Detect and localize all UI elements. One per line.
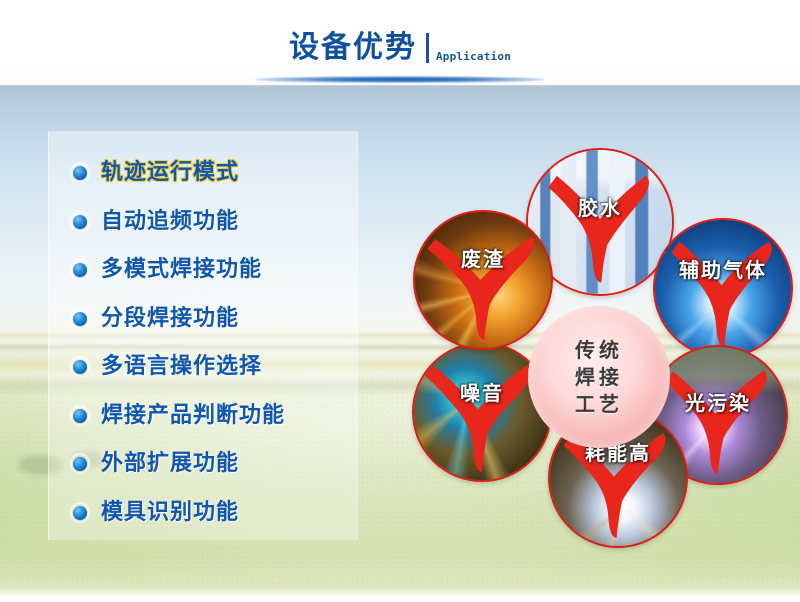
diagram-center-node[interactable]: 传统 焊接 工艺 bbox=[528, 306, 670, 448]
feature-item-7[interactable]: 外部扩展功能 bbox=[48, 440, 378, 489]
feature-label: 外部扩展功能 bbox=[101, 453, 239, 475]
feature-item-2[interactable]: 自动追频功能 bbox=[48, 198, 378, 247]
feature-label: 多语言操作选择 bbox=[101, 356, 262, 378]
node-label: 胶水 bbox=[528, 198, 672, 218]
feature-item-4[interactable]: 分段焊接功能 bbox=[48, 295, 378, 344]
red-cross-icon bbox=[415, 212, 551, 348]
feature-item-5[interactable]: 多语言操作选择 bbox=[48, 343, 378, 392]
center-label-line-2: 焊接 bbox=[575, 364, 623, 391]
bullet-dot-icon bbox=[73, 457, 87, 471]
feature-label: 模具识别功能 bbox=[101, 502, 239, 524]
page-title-cn: 设备优势 bbox=[289, 33, 417, 63]
bullet-dot-icon bbox=[73, 360, 87, 374]
center-label-line-3: 工艺 bbox=[575, 391, 623, 418]
bullet-dot-icon bbox=[73, 166, 87, 180]
bullet-dot-icon bbox=[73, 215, 87, 229]
feature-list: 轨迹运行模式 自动追频功能 多模式焊接功能 分段焊接功能 多语言操作选择 焊接产… bbox=[48, 131, 378, 540]
feature-label: 自动追频功能 bbox=[101, 211, 239, 233]
feature-item-8[interactable]: 模具识别功能 bbox=[48, 489, 378, 538]
node-shield-gas[interactable]: 辅助气体 bbox=[653, 218, 793, 358]
traditional-welding-diagram: 胶水 辅助气体 光污染 bbox=[400, 130, 800, 550]
bullet-dot-icon bbox=[73, 409, 87, 423]
feature-item-1[interactable]: 轨迹运行模式 bbox=[48, 149, 378, 198]
page-title: 设备优势 Application bbox=[0, 33, 800, 63]
feature-label: 多模式焊接功能 bbox=[101, 259, 262, 281]
node-label: 辅助气体 bbox=[655, 260, 791, 280]
bullet-dot-icon bbox=[73, 263, 87, 277]
bullet-dot-icon bbox=[73, 312, 87, 326]
slide-root: 设备优势 Application 轨迹运行模式 自动追频功能 多模式焊接功能 分… bbox=[0, 0, 800, 602]
header-bar: 设备优势 Application bbox=[0, 0, 800, 86]
header-divider-line bbox=[0, 85, 800, 86]
page-title-en: Application bbox=[436, 51, 511, 63]
node-label: 光污染 bbox=[650, 393, 786, 413]
red-cross-icon bbox=[655, 220, 791, 356]
bullet-dot-icon bbox=[73, 506, 87, 520]
node-label: 耗能高 bbox=[550, 443, 686, 463]
feature-label: 分段焊接功能 bbox=[101, 308, 239, 330]
node-slag[interactable]: 废渣 bbox=[413, 210, 553, 350]
bottom-white-fade bbox=[0, 588, 800, 602]
center-label-line-1: 传统 bbox=[575, 337, 623, 364]
feature-item-3[interactable]: 多模式焊接功能 bbox=[48, 246, 378, 295]
title-underline-glow bbox=[255, 76, 545, 83]
node-label: 废渣 bbox=[415, 249, 551, 269]
feature-item-6[interactable]: 焊接产品判断功能 bbox=[48, 392, 378, 441]
feature-label: 轨迹运行模式 bbox=[101, 162, 239, 184]
feature-label: 焊接产品判断功能 bbox=[101, 405, 285, 427]
title-divider bbox=[426, 33, 429, 63]
